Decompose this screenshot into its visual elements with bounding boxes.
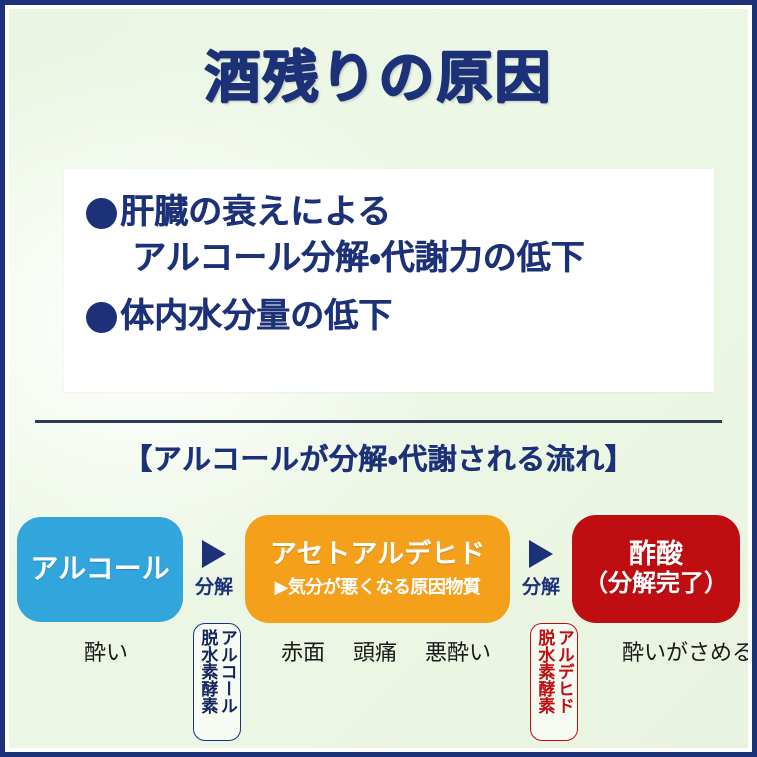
enzyme-aldh-name: アルデヒド [554, 629, 572, 714]
poster-inner-border: 酒残りの原因 肝臓の衰えによる アルコール分解・代謝力の低下 体内水分量の低下 [5, 5, 752, 752]
effect-symptom-2: 頭痛 [353, 635, 397, 667]
poster-canvas: 酒残りの原因 肝臓の衰えによる アルコール分解・代謝力の低下 体内水分量の低下 [9, 9, 748, 748]
flow-arrow-1-label: 分解 [195, 572, 233, 599]
flow-node-acetic-acid-subtitle: （分解完了） [584, 570, 728, 599]
flow-node-acetic-acid: 酢酸 （分解完了） [572, 515, 740, 623]
cause-item-1-line-1: 肝臓の衰えによる [120, 189, 585, 235]
flow-node-acetaldehyde-title: アセトアルデヒド [270, 539, 485, 570]
flow-node-acetaldehyde-subtitle: ▶気分が悪くなる原因物質 [275, 573, 481, 599]
flow-node-alcohol: アルコール [17, 517, 183, 622]
flow-section-heading: 【アルコールが分解・代謝される流れ】 [9, 436, 748, 478]
cause-item-2: 体内水分量の低下 [64, 281, 714, 339]
section-divider [35, 420, 722, 423]
effects-row: 酔い 赤面 頭痛 悪酔い 酔いがさめる アルコール 脱水素酵素 アルデヒド 脱水… [9, 621, 748, 748]
cause-item-2-lines: 体内水分量の低下 [120, 293, 392, 339]
cause-item-2-line-1: 体内水分量の低下 [120, 293, 392, 339]
effect-symptoms-list: 赤面 頭痛 悪酔い [281, 635, 491, 667]
triangle-right-icon [202, 540, 226, 568]
cause-item-1: 肝臓の衰えによる アルコール分解・代謝力の低下 [64, 169, 714, 281]
enzyme-aldh-suffix: 脱水素酵素 [535, 629, 553, 714]
enzyme-badge-alcohol-dehydrogenase: アルコール 脱水素酵素 [193, 623, 241, 741]
page-title: 酒残りの原因 [9, 49, 748, 108]
cause-item-1-line-2: アルコール分解・代謝力の低下 [120, 235, 585, 281]
flow-node-acetic-acid-title: 酢酸 [629, 539, 683, 570]
bullet-circle-icon [86, 198, 117, 229]
causes-card: 肝臓の衰えによる アルコール分解・代謝力の低下 体内水分量の低下 [64, 169, 714, 392]
effect-symptom-3: 悪酔い [425, 635, 491, 667]
metabolism-flow-diagram: アルコール 分解 アセトアルデヒド ▶気分が悪くなる原因物質 分解 酢酸 （分解… [9, 514, 748, 624]
cause-item-1-lines: 肝臓の衰えによる アルコール分解・代謝力の低下 [120, 189, 585, 281]
effect-symptom-1: 赤面 [281, 635, 325, 667]
bullet-circle-icon [86, 302, 117, 333]
flow-node-alcohol-title: アルコール [30, 553, 169, 585]
flow-node-acetaldehyde: アセトアルデヒド ▶気分が悪くなる原因物質 [245, 515, 510, 623]
effect-after-alcohol: 酔い [84, 635, 128, 667]
flow-arrow-2-label: 分解 [522, 572, 560, 599]
flow-arrow-1: 分解 [183, 540, 245, 599]
effect-after-acetic-acid: 酔いがさめる [622, 635, 748, 667]
flow-arrow-2: 分解 [510, 540, 572, 599]
poster-frame: 酒残りの原因 肝臓の衰えによる アルコール分解・代謝力の低下 体内水分量の低下 [0, 0, 757, 757]
triangle-right-icon [529, 540, 553, 568]
enzyme-adh-name: アルコール [217, 629, 235, 714]
enzyme-adh-suffix: 脱水素酵素 [198, 629, 216, 714]
enzyme-badge-aldehyde-dehydrogenase: アルデヒド 脱水素酵素 [530, 623, 578, 741]
